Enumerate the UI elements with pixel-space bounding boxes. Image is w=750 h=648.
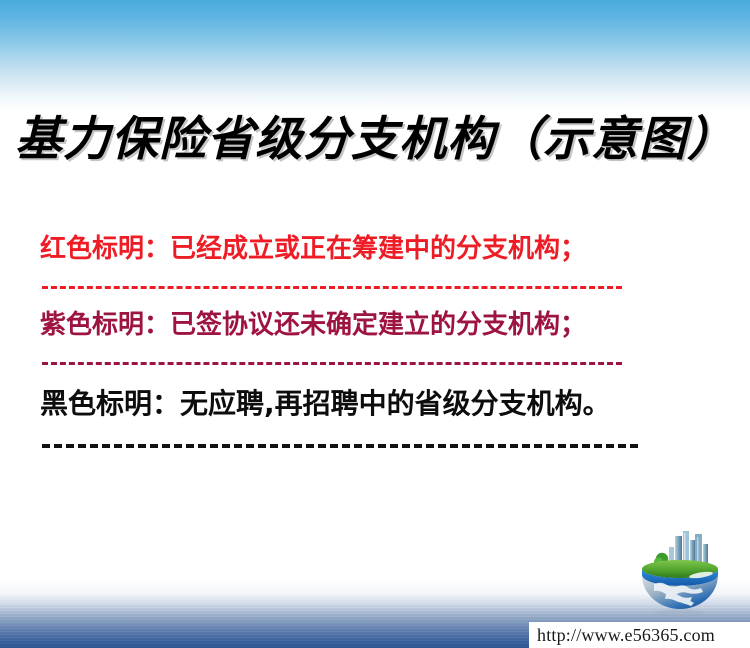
watermark-url-box: http://www.e56365.com <box>529 622 750 648</box>
watermark-url-text: http://www.e56365.com <box>529 625 715 646</box>
legend-row-purple: 紫色标明：已签协议还未确定建立的分支机构； <box>40 312 710 365</box>
slide-canvas: 基力保险省级分支机构（示意图） 红色标明：已经成立或正在筹建中的分支机构； 紫色… <box>0 0 750 648</box>
legend-divider-red <box>42 286 622 289</box>
legend-divider-purple <box>42 362 622 365</box>
sky-gradient-background <box>0 0 750 110</box>
legend-label-black: 黑色标明：无应聘,再招聘中的省级分支机构。 <box>40 390 710 418</box>
page-title: 基力保险省级分支机构（示意图） <box>0 100 750 169</box>
globe-city-logo-icon <box>628 528 732 618</box>
legend-row-red: 红色标明：已经成立或正在筹建中的分支机构； <box>40 236 710 289</box>
globe-shadow <box>654 609 706 616</box>
legend-label-red: 红色标明：已经成立或正在筹建中的分支机构； <box>40 236 710 262</box>
legend-row-black: 黑色标明：无应聘,再招聘中的省级分支机构。 <box>40 390 710 448</box>
legend-block: 红色标明：已经成立或正在筹建中的分支机构； 紫色标明：已签协议还未确定建立的分支… <box>40 236 710 448</box>
city-buildings <box>669 531 708 564</box>
legend-label-purple: 紫色标明：已签协议还未确定建立的分支机构； <box>40 312 710 338</box>
legend-divider-black <box>42 444 638 448</box>
